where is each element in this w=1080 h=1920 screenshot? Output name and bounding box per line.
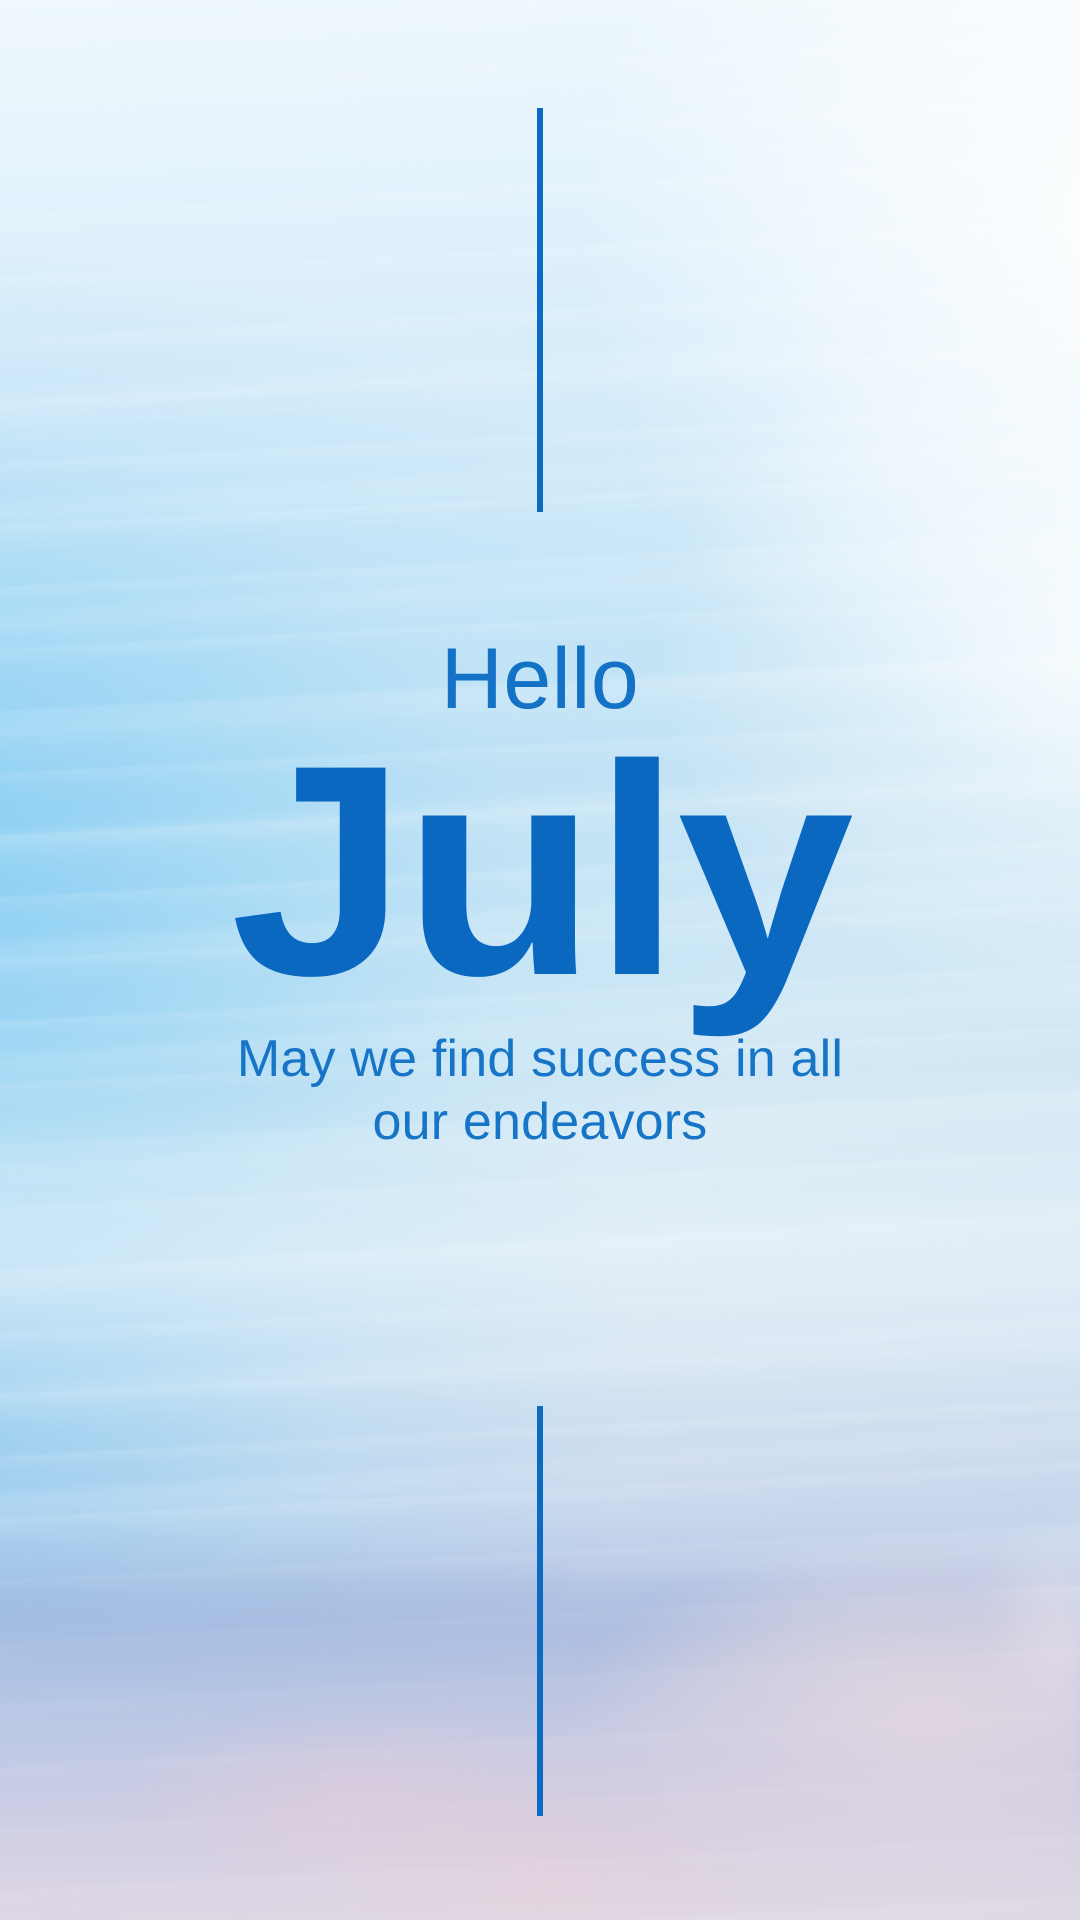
poster-canvas: Hello July May we find success in all ou… [0,0,1080,1920]
bottom-vertical-rule [537,1406,543,1816]
poster-content: Hello July May we find success in all ou… [0,636,1080,1155]
month-title: July [0,738,1080,1002]
top-vertical-rule [537,108,543,512]
tagline-line-2: our endeavors [170,1091,910,1154]
tagline: May we find success in all our endeavors [170,1028,910,1155]
